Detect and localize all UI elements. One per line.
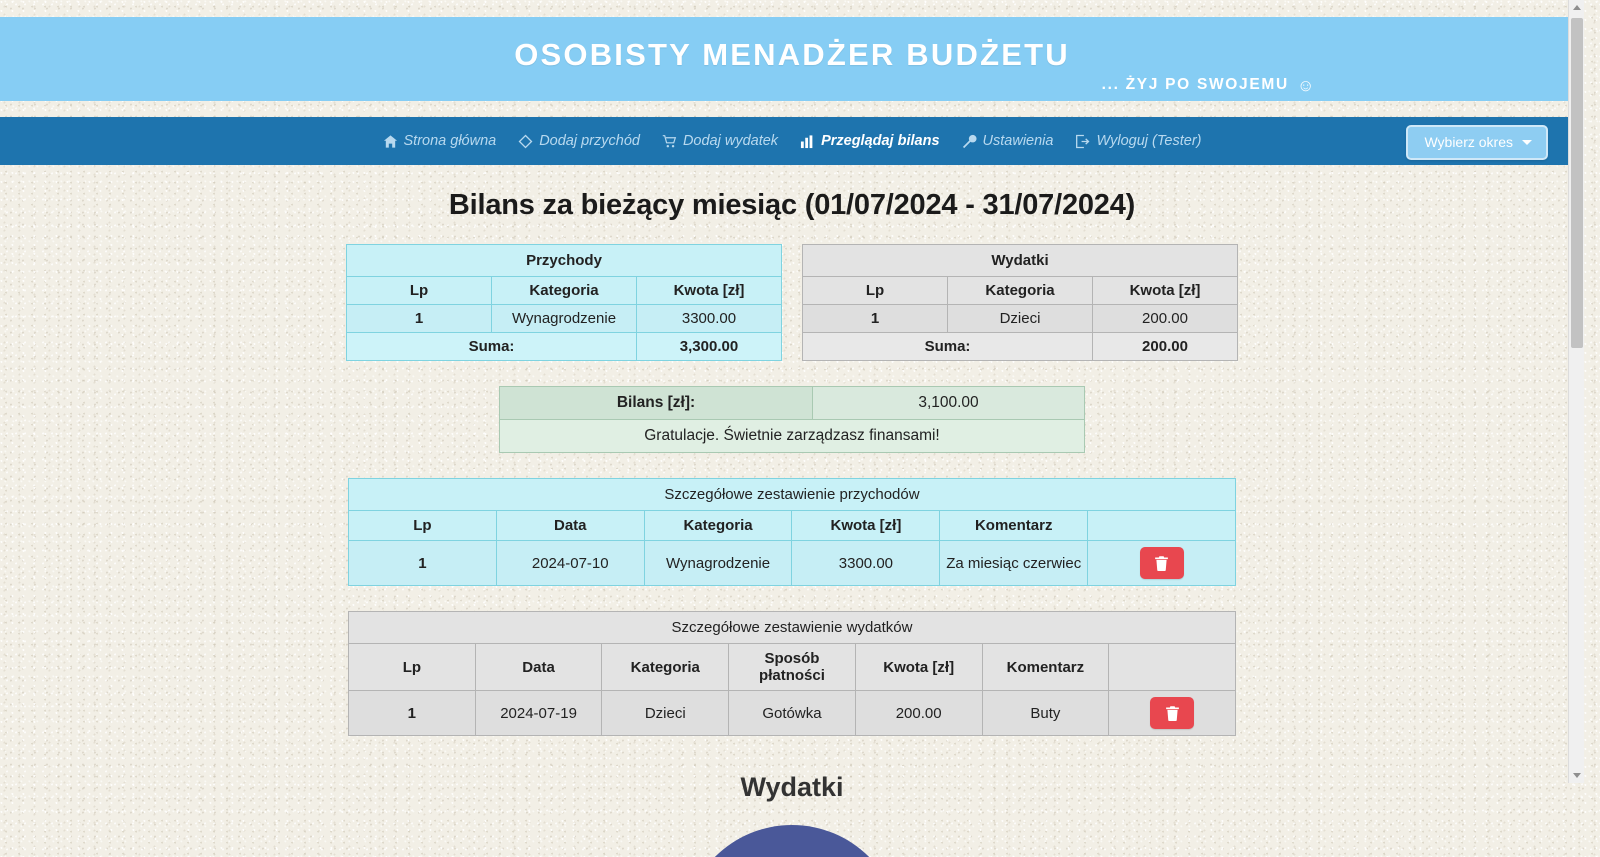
nav-item-label: Dodaj wydatek [683,133,778,149]
cell-date: 2024-07-10 [496,541,644,586]
nav-item-label: Wyloguj (Tester) [1096,133,1201,149]
page-title: Bilans za bieżący miesiąc (01/07/2024 - … [0,189,1584,222]
cell-lp: 1 [349,691,476,736]
top-spacer [0,0,1584,17]
table-row: 1 Dzieci 200.00 [803,305,1238,333]
income-sum-label: Suma: [347,333,637,361]
cell-lp: 1 [803,305,948,333]
select-period-button[interactable]: Wybierz okres [1406,125,1548,160]
cell-amount: 3300.00 [637,305,782,333]
column-header: Lp [347,277,492,305]
banner-spacer [0,101,1584,117]
income-detail-section: Szczegółowe zestawienie przychodów Lp Da… [0,478,1584,586]
expense-summary-table: Wydatki Lp Kategoria Kwota [zł] 1 Dzieci… [802,244,1238,361]
cell-amount: 3300.00 [792,541,940,586]
cell-category: Wynagrodzenie [492,305,637,333]
cell-payment-method: Gotówka [729,691,856,736]
balance-value: 3,100.00 [813,387,1085,420]
logout-icon [1075,134,1090,149]
income-sum-value: 3,300.00 [637,333,782,361]
app-page: OSOBISTY MENADŻER BUDŻETU ... ŻYJ PO SWO… [0,0,1584,783]
income-sum-row: Suma: 3,300.00 [347,333,782,361]
column-header: Kategoria [602,644,729,691]
balance-message: Gratulacje. Świetnie zarządzasz finansam… [500,420,1085,453]
cell-date: 2024-07-19 [475,691,602,736]
scroll-up-arrow-icon[interactable] [1573,5,1581,10]
column-header-actions [1088,511,1236,541]
table-row: 1 2024-07-10 Wynagrodzenie 3300.00 Za mi… [349,541,1236,586]
diamond-icon [518,134,533,149]
cell-amount: 200.00 [1093,305,1238,333]
select-period-label: Wybierz okres [1424,134,1513,150]
column-header: Kategoria [492,277,637,305]
vertical-scrollbar[interactable] [1568,0,1584,783]
expense-sum-value: 200.00 [1093,333,1238,361]
column-header: Data [496,511,644,541]
column-header: Komentarz [940,511,1088,541]
column-header: Kwota [zł] [855,644,982,691]
table-row: 1 2024-07-19 Dzieci Gotówka 200.00 Buty [349,691,1236,736]
column-header: Lp [349,511,497,541]
app-subtitle-wrap: ... ŻYJ PO SWOJEMU ☺ [1102,76,1316,94]
wrench-icon [962,134,977,149]
income-detail-caption: Szczegółowe zestawienie przychodów [349,479,1236,511]
expense-sum-label: Suma: [803,333,1093,361]
app-banner: OSOBISTY MENADŻER BUDŻETU ... ŻYJ PO SWO… [0,17,1584,101]
column-header: Lp [803,277,948,305]
nav-links: Strona główna Dodaj przychód Dodaj wydat… [372,130,1213,152]
nav-item-label: Ustawienia [983,133,1054,149]
trash-icon [1164,705,1181,722]
nav-item-ustawienia[interactable]: Ustawienia [951,130,1065,152]
balance-label: Bilans [zł]: [500,387,813,420]
pie-slice-dzieci [683,825,901,857]
bar-chart-icon [800,134,815,149]
smiley-icon: ☺ [1297,77,1316,94]
nav-item-label: Dodaj przychód [539,133,640,149]
cell-lp: 1 [347,305,492,333]
nav-item-strona-glowna[interactable]: Strona główna [372,130,508,152]
column-header: Kategoria [644,511,792,541]
column-header: Kwota [zł] [1093,277,1238,305]
expenses-pie-chart [0,817,1584,857]
expense-sum-row: Suma: 200.00 [803,333,1238,361]
column-header: Kategoria [948,277,1093,305]
scroll-down-arrow-icon[interactable] [1573,773,1581,778]
income-detail-table: Szczegółowe zestawienie przychodów Lp Da… [348,478,1236,586]
column-header: Sposób płatności [729,644,856,691]
trash-icon [1153,555,1170,572]
main-navbar: Strona główna Dodaj przychód Dodaj wydat… [0,117,1584,165]
cell-actions [1088,541,1236,586]
home-icon [383,134,398,149]
balance-table: Bilans [zł]: 3,100.00 Gratulacje. Świetn… [499,386,1085,453]
chevron-down-icon [1522,140,1532,145]
nav-item-przegladaj-bilans[interactable]: Przeglądaj bilans [789,130,950,152]
column-header: Kwota [zł] [637,277,782,305]
column-header: Lp [349,644,476,691]
expense-detail-section: Szczegółowe zestawienie wydatków Lp Data… [0,611,1584,736]
income-summary-table: Przychody Lp Kategoria Kwota [zł] 1 Wyna… [346,244,782,361]
nav-item-label: Strona główna [404,133,497,149]
summary-tables-row: Przychody Lp Kategoria Kwota [zł] 1 Wyna… [0,244,1584,361]
column-header: Data [475,644,602,691]
cart-icon [662,134,677,149]
cell-category: Dzieci [602,691,729,736]
cell-lp: 1 [349,541,497,586]
nav-item-wyloguj[interactable]: Wyloguj (Tester) [1064,130,1212,152]
delete-income-button[interactable] [1140,547,1184,579]
cell-comment: Buty [982,691,1109,736]
cell-category: Dzieci [948,305,1093,333]
balance-section: Bilans [zł]: 3,100.00 Gratulacje. Świetn… [0,386,1584,453]
income-summary-caption: Przychody [347,245,782,277]
delete-expense-button[interactable] [1150,697,1194,729]
expense-detail-caption: Szczegółowe zestawienie wydatków [349,612,1236,644]
table-row: 1 Wynagrodzenie 3300.00 [347,305,782,333]
expense-detail-table: Szczegółowe zestawienie wydatków Lp Data… [348,611,1236,736]
expense-summary-caption: Wydatki [803,245,1238,277]
nav-item-dodaj-przychod[interactable]: Dodaj przychód [507,130,651,152]
cell-category: Wynagrodzenie [644,541,792,586]
column-header-actions [1109,644,1236,691]
scrollbar-thumb[interactable] [1571,18,1583,348]
chart-section-title: Wydatki [0,772,1584,803]
app-subtitle: ... ŻYJ PO SWOJEMU [1102,76,1289,94]
cell-comment: Za miesiąc czerwiec [940,541,1088,586]
cell-amount: 200.00 [855,691,982,736]
main-content: Bilans za bieżący miesiąc (01/07/2024 - … [0,165,1584,857]
nav-item-dodaj-wydatek[interactable]: Dodaj wydatek [651,130,789,152]
cell-actions [1109,691,1236,736]
column-header: Kwota [zł] [792,511,940,541]
column-header: Komentarz [982,644,1109,691]
app-title: OSOBISTY MENADŻER BUDŻETU [0,17,1584,70]
nav-item-label: Przeglądaj bilans [821,133,939,149]
